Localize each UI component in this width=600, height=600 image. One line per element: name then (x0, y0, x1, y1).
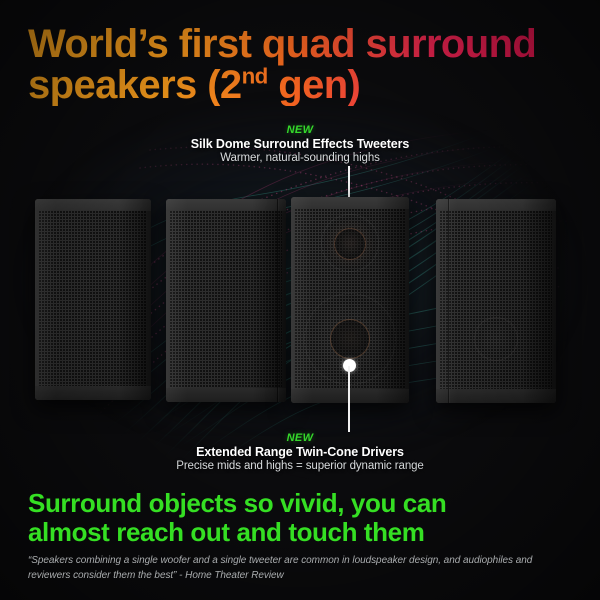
headline-line-2: speakers (2nd gen) (28, 65, 584, 106)
headline-ordinal-suffix: nd (242, 63, 268, 88)
headline-line-2b: gen) (268, 63, 361, 107)
speaker-2-shading (166, 199, 286, 402)
speaker-3-shading (291, 197, 409, 403)
speaker-3[interactable] (291, 197, 409, 403)
callout-tweeter: NEW Silk Dome Surround Effects Tweeters … (0, 124, 600, 164)
sub-headline-line-1: Surround objects so vivid, you can (28, 488, 446, 518)
speaker-4[interactable] (436, 199, 556, 403)
speaker-2-cabinet (166, 199, 286, 402)
callout-title-woofer: Extended Range Twin-Cone Drivers (0, 445, 600, 459)
speaker-3-cabinet (291, 197, 409, 403)
speaker-4-shading (436, 199, 556, 403)
new-badge-top: NEW (0, 124, 600, 136)
speaker-4-cabinet (436, 199, 556, 403)
poster-stage: World’s first quad surround speakers (2n… (0, 0, 600, 600)
headline-line-1: World’s first quad surround (28, 22, 536, 66)
review-quote: “Speakers combining a single woofer and … (28, 553, 576, 583)
sub-headline: Surround objects so vivid, you can almos… (28, 489, 584, 547)
speaker-1-shading (35, 199, 151, 400)
page-title: World’s first quad surround speakers (2n… (28, 24, 584, 106)
callout-subtitle-woofer: Precise mids and highs = superior dynami… (0, 460, 600, 472)
sub-headline-line-2: almost reach out and touch them (28, 518, 584, 547)
speaker-2[interactable] (166, 199, 286, 402)
headline-line-2a: speakers (2 (28, 63, 242, 107)
callout-subtitle-tweeter: Warmer, natural-sounding highs (0, 152, 600, 164)
callout-title-tweeter: Silk Dome Surround Effects Tweeters (0, 137, 600, 151)
new-badge-bottom: NEW (0, 432, 600, 444)
speaker-1-cabinet (35, 199, 151, 400)
speaker-1[interactable] (35, 199, 151, 400)
leader-line-woofer (348, 366, 350, 432)
callout-woofer: NEW Extended Range Twin-Cone Drivers Pre… (0, 432, 600, 472)
